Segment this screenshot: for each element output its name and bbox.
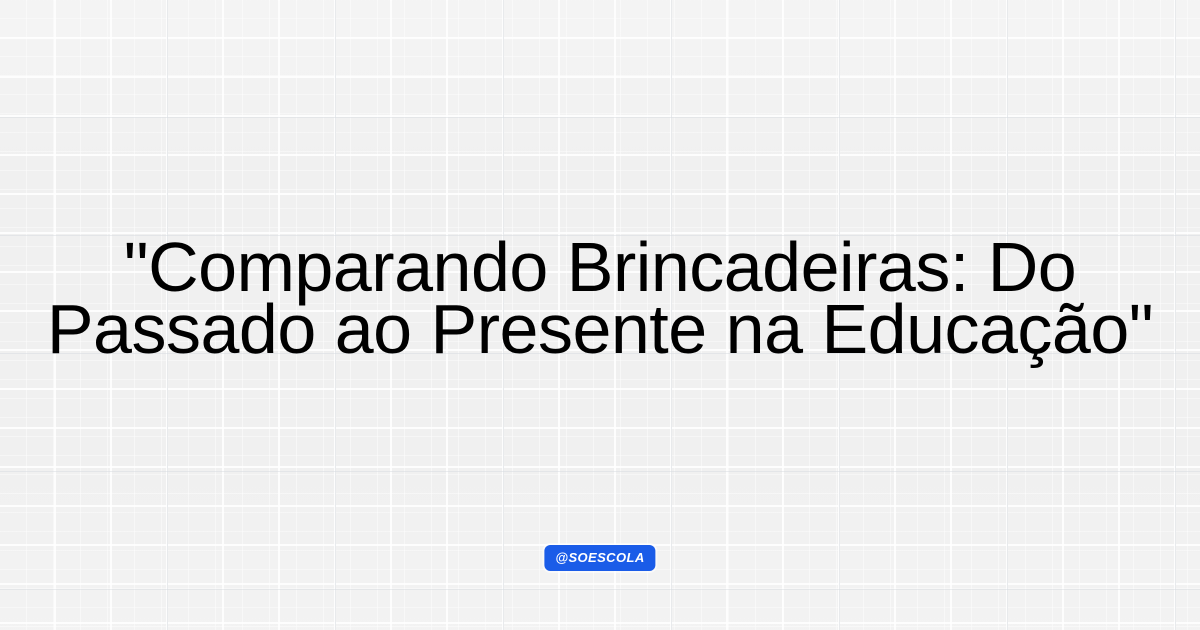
title-card: "Comparando Brincadeiras: Do Passado ao … [0,0,1200,630]
title-block: "Comparando Brincadeiras: Do Passado ao … [0,236,1200,360]
watermark-badge: @SOESCOLA [544,545,655,571]
page-title: "Comparando Brincadeiras: Do Passado ao … [30,236,1170,360]
